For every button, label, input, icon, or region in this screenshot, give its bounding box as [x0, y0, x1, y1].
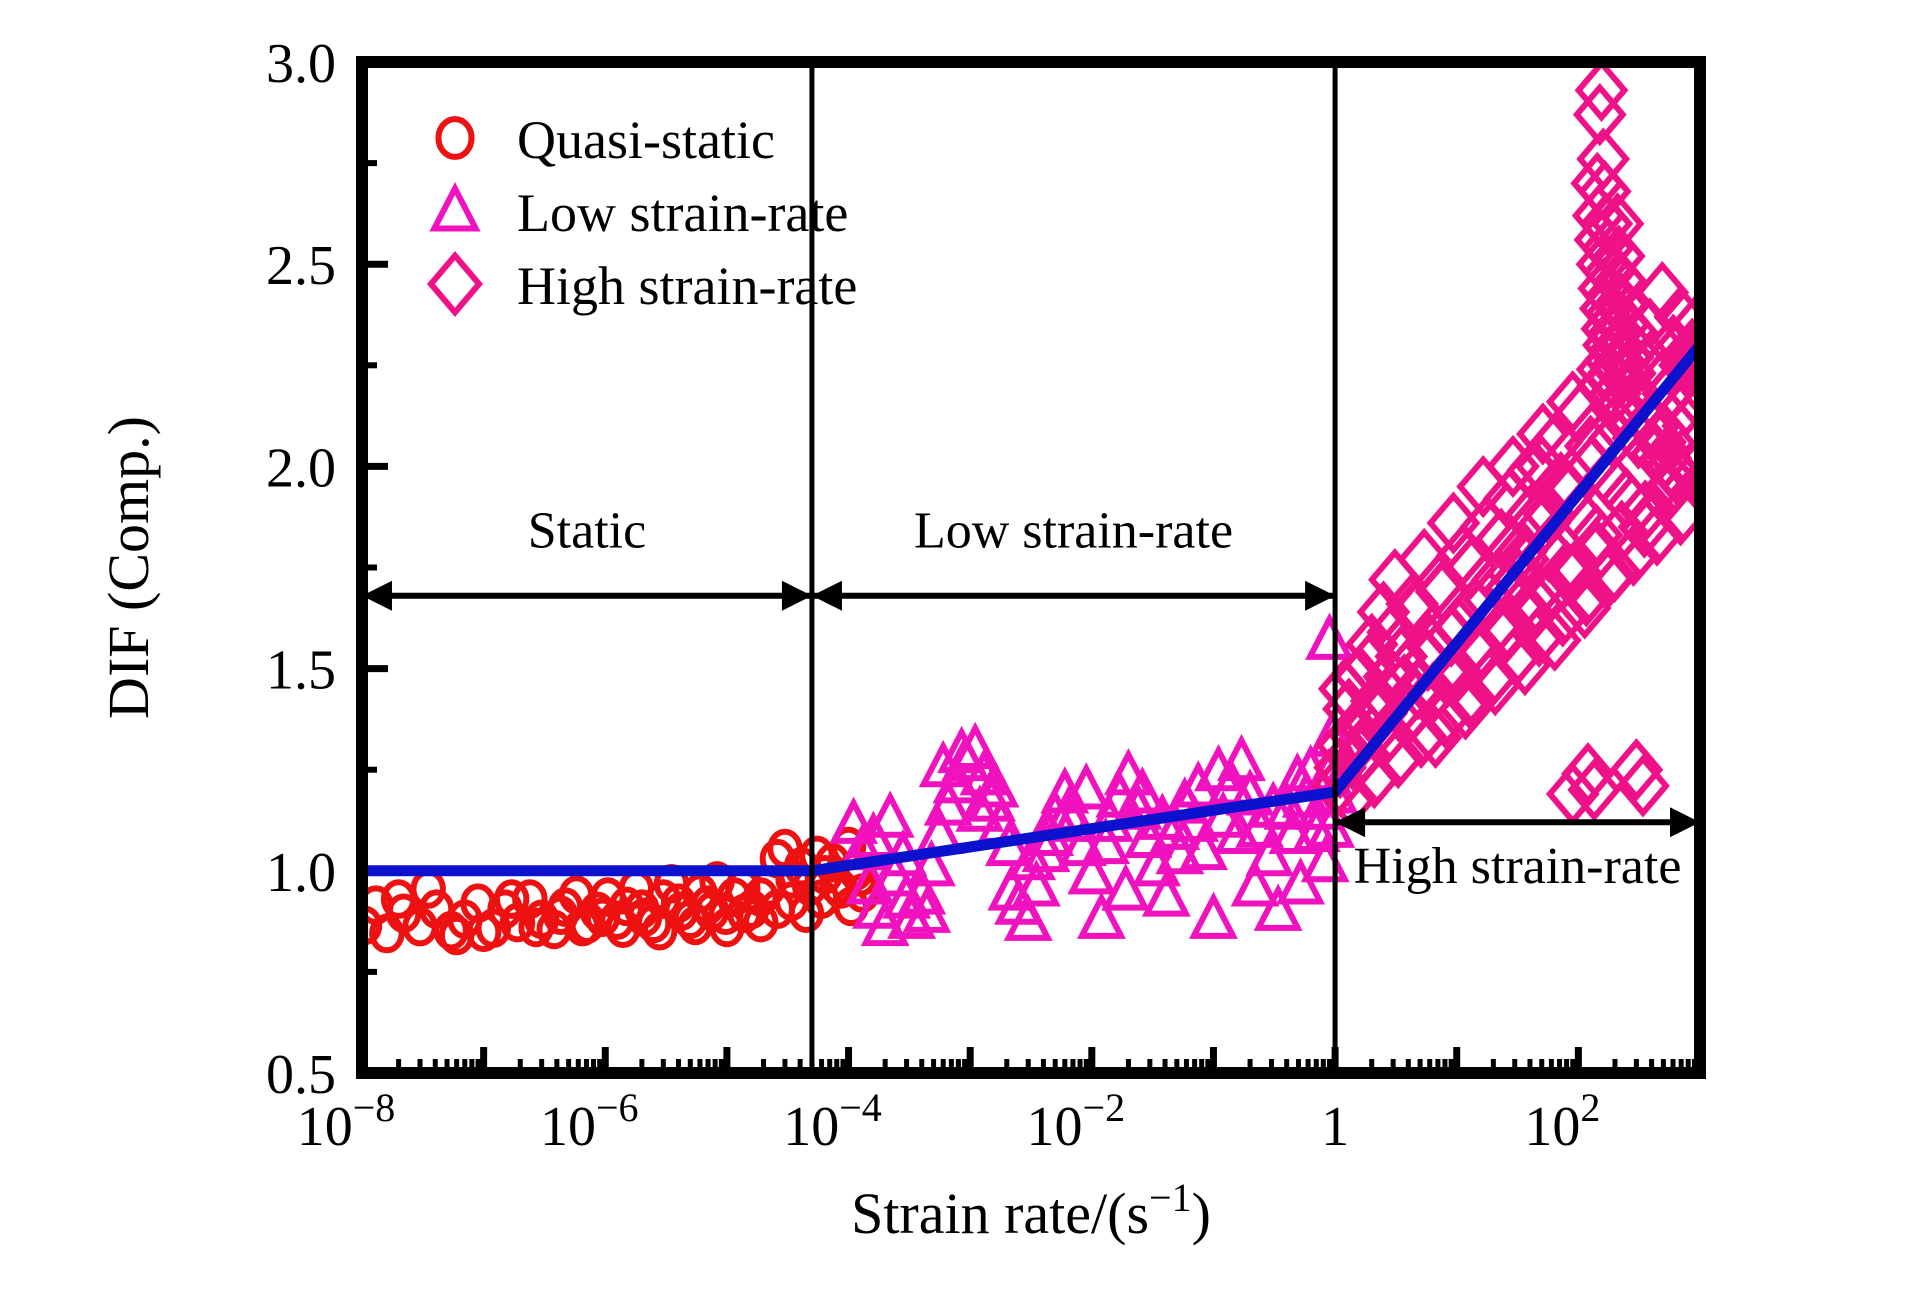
- chart-canvas: StaticLow strain-rateHigh strain-rate0.5…: [0, 0, 1923, 1299]
- annotation-label: High strain-rate: [1354, 838, 1682, 895]
- annotation-label: Static: [528, 502, 646, 559]
- legend-label: High strain-rate: [517, 256, 857, 316]
- y-axis-title: DIF (Comp.): [96, 416, 161, 719]
- x-tick-label: 1: [1321, 1096, 1349, 1158]
- y-tick-label: 3.0: [266, 33, 336, 95]
- y-tick-label: 1.0: [266, 842, 336, 904]
- legend-label: Low strain-rate: [517, 183, 848, 243]
- legend-label: Quasi-static: [517, 110, 775, 170]
- dif-strain-rate-chart: StaticLow strain-rateHigh strain-rate0.5…: [0, 0, 1923, 1299]
- annotation-high-strain-rate: High strain-rate: [1335, 807, 1700, 895]
- y-tick-label: 2.0: [266, 437, 336, 499]
- annotation-label: Low strain-rate: [914, 502, 1233, 559]
- y-tick-label: 2.5: [266, 235, 336, 297]
- y-tick-label: 1.5: [266, 640, 336, 702]
